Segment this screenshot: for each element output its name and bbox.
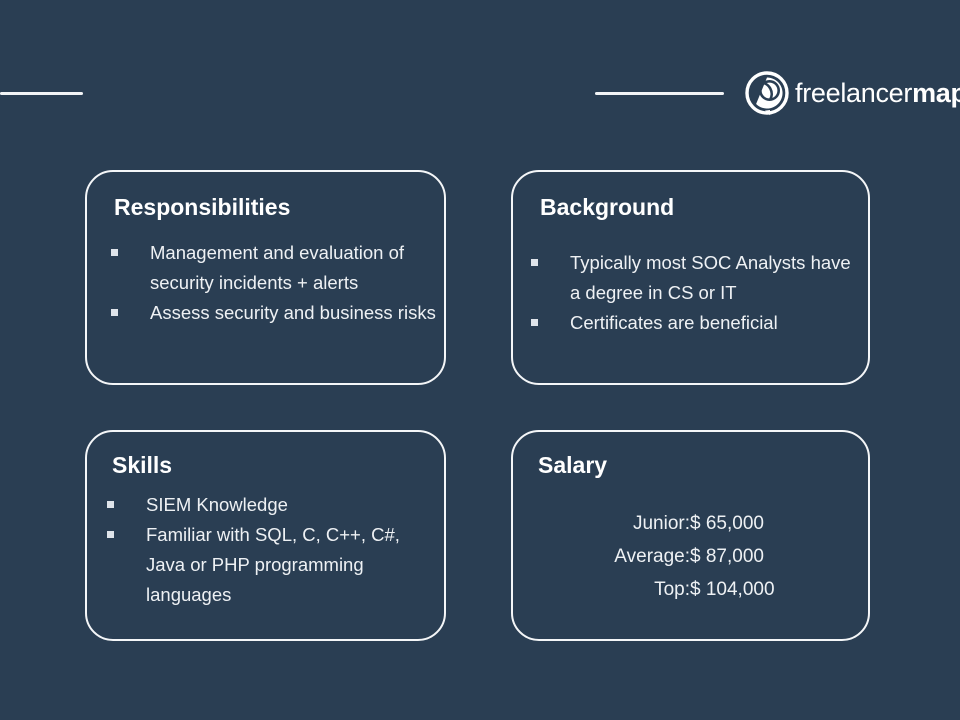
salary-label-average: Average: <box>553 540 690 573</box>
wordmark-map: map <box>912 78 960 108</box>
list-item: Certificates are beneficial <box>529 308 865 338</box>
list-item-text: Typically most SOC Analysts have a degre… <box>570 252 851 303</box>
card-title-skills: Skills <box>112 452 172 479</box>
list-item: Assess security and business risks <box>109 298 439 328</box>
square-bullet-icon <box>107 501 114 508</box>
list-item: Familiar with SQL, C, C++, C#, Java or P… <box>105 520 441 610</box>
freelancermap-logo: freelancermap <box>744 70 960 116</box>
list-item-text: Familiar with SQL, C, C++, C#, Java or P… <box>146 524 400 605</box>
responsibilities-list: Management and evaluation of security in… <box>109 238 439 328</box>
list-item: Management and evaluation of security in… <box>109 238 439 298</box>
list-item-text: Certificates are beneficial <box>570 312 778 333</box>
salary-label-junior: Junior: <box>553 507 690 540</box>
title-rule-right-icon <box>595 92 724 95</box>
wordmark-freelancer: freelancer <box>795 78 912 108</box>
skills-list: SIEM Knowledge Familiar with SQL, C, C++… <box>105 490 441 610</box>
list-item-text: Assess security and business risks <box>150 302 436 323</box>
table-row: Top: $ 104,000 <box>553 573 843 606</box>
square-bullet-icon <box>531 259 538 266</box>
square-bullet-icon <box>111 309 118 316</box>
list-item-text: Management and evaluation of security in… <box>150 242 404 293</box>
card-title-responsibilities: Responsibilities <box>114 194 290 221</box>
square-bullet-icon <box>111 249 118 256</box>
salary-label-top: Top: <box>553 573 690 606</box>
freelancermap-wordmark: freelancermap <box>795 80 960 107</box>
table-row: Average: $ 87,000 <box>553 540 843 573</box>
list-item: Typically most SOC Analysts have a degre… <box>529 248 865 308</box>
card-background: Background Typically most SOC Analysts h… <box>511 170 870 385</box>
card-skills: Skills SIEM Knowledge Familiar with SQL,… <box>85 430 446 641</box>
card-title-salary: Salary <box>538 452 607 479</box>
salary-value-junior: $ 65,000 <box>690 507 843 540</box>
background-list: Typically most SOC Analysts have a degre… <box>529 248 865 338</box>
list-item-text: SIEM Knowledge <box>146 494 288 515</box>
salary-value-average: $ 87,000 <box>690 540 843 573</box>
card-salary: Salary Junior: $ 65,000 Average: $ 87,00… <box>511 430 870 641</box>
title-rule-left-icon <box>0 92 83 95</box>
page-header: freelancermap <box>0 0 960 160</box>
salary-table: Junior: $ 65,000 Average: $ 87,000 Top: … <box>553 507 843 606</box>
card-title-background: Background <box>540 194 674 221</box>
square-bullet-icon <box>531 319 538 326</box>
card-responsibilities: Responsibilities Management and evaluati… <box>85 170 446 385</box>
list-item: SIEM Knowledge <box>105 490 441 520</box>
freelancermap-swirl-icon <box>744 70 790 116</box>
square-bullet-icon <box>107 531 114 538</box>
table-row: Junior: $ 65,000 <box>553 507 843 540</box>
salary-value-top: $ 104,000 <box>690 573 843 606</box>
